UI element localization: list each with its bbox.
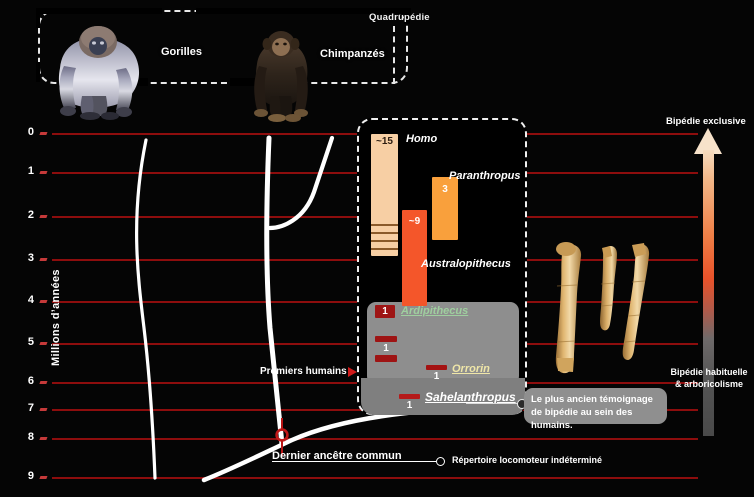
- ytick-mark-7: [40, 408, 48, 411]
- bipedality-bottom-line-1: Bipédie habituelle: [664, 366, 754, 378]
- chimpanzee-lineage-curve: [267, 138, 282, 444]
- first-humans-label: Premiers humains: [260, 366, 347, 377]
- hominin-taxa-panel: ~15 Homo 3 Paranthropus ~9 Australopithe…: [357, 118, 527, 415]
- human-lineage-curve: [204, 408, 482, 480]
- taxon-bar-sahelanthropus: [399, 394, 420, 399]
- taxon-bar-ardipithecus-kadabba-b: [375, 355, 397, 362]
- label-chimpanzes: Chimpanzés: [320, 48, 385, 60]
- orrorin-count: 1: [426, 371, 447, 382]
- homo-stripe-4: [371, 248, 398, 250]
- ytick-mark-2: [40, 215, 48, 218]
- ytick-label-3: 3: [20, 252, 34, 264]
- femur-fossils: [540, 238, 660, 383]
- ytick-label-9: 9: [20, 470, 34, 482]
- ytick-label-4: 4: [20, 294, 34, 306]
- gorilla-lineage-curve: [137, 140, 155, 478]
- homo-count: ~15: [371, 136, 398, 147]
- bipedality-top-label: Bipédie exclusive: [666, 116, 746, 127]
- bonobo-branch-curve: [270, 138, 332, 228]
- gorilla-photo: [38, 16, 158, 120]
- orrorin-label: Orrorin: [452, 363, 490, 375]
- quadrupedie-stem: [393, 26, 395, 84]
- oldest-bipedality-callout: Le plus ancien témoignage de bipédie au …: [524, 388, 667, 424]
- ytick-label-0: 0: [20, 126, 34, 138]
- paranthropus-label: Paranthropus: [449, 170, 521, 182]
- sahelanthropus-count: 1: [399, 400, 420, 411]
- ytick-label-1: 1: [20, 165, 34, 177]
- ytick-mark-6: [40, 381, 48, 384]
- ytick-mark-0: [40, 132, 48, 135]
- ytick-mark-4: [40, 300, 48, 303]
- taxon-bar-homo: [371, 134, 398, 256]
- last-common-ancestor-label: Dernier ancêtre commun: [272, 450, 402, 462]
- ardipithecus-kadabba-count: 1: [375, 343, 397, 354]
- femur-1-distal: [557, 358, 574, 372]
- ytick-mark-3: [40, 258, 48, 261]
- femur-3: [623, 244, 649, 360]
- callout-leader-line: [466, 403, 519, 404]
- femur-2: [600, 246, 617, 330]
- undetermined-locomotion-label: Répertoire locomoteur indéterminé: [452, 455, 602, 465]
- undetermined-locomotion-marker-icon: [436, 457, 445, 466]
- undetermined-locomotion-leader: [400, 461, 436, 462]
- bracket-mask-top-left: [36, 8, 162, 14]
- homo-stripe-1: [371, 224, 398, 226]
- bipedality-gradient-shaft: [703, 150, 714, 436]
- label-gorilles: Gorilles: [161, 46, 202, 58]
- bipedality-bottom-line-2: & arboricolisme: [664, 378, 754, 390]
- homo-stripe-3: [371, 240, 398, 242]
- ytick-label-8: 8: [20, 431, 34, 443]
- ytick-label-7: 7: [20, 402, 34, 414]
- ytick-label-6: 6: [20, 375, 34, 387]
- ardipithecus-count: 1: [375, 306, 395, 317]
- ytick-label-5: 5: [20, 336, 34, 348]
- quadrupedie-label: Quadrupédie: [369, 12, 430, 23]
- ytick-label-2: 2: [20, 209, 34, 221]
- ytick-mark-5: [40, 342, 48, 345]
- homo-label: Homo: [406, 133, 437, 145]
- taxon-bar-ardipithecus-kadabba-a: [375, 336, 397, 342]
- y-axis-title: Millions d’années: [50, 269, 62, 366]
- homo-stripe-2: [371, 232, 398, 234]
- sahelanthropus-label: Sahelanthropus: [425, 390, 516, 404]
- ytick-mark-9: [40, 476, 48, 479]
- femur-1: [556, 244, 581, 373]
- australopithecus-count: ~9: [402, 216, 427, 227]
- chimpanzee-photo: [237, 22, 325, 122]
- femur-1-head: [556, 242, 576, 256]
- ytick-mark-1: [40, 171, 48, 174]
- ardipithecus-label: Ardipithecus: [401, 305, 468, 317]
- taxon-bar-orrorin: [426, 365, 447, 370]
- ytick-mark-8: [40, 437, 48, 440]
- infographic-root: Quadrupédie: [0, 0, 754, 497]
- australopithecus-label: Australopithecus: [421, 258, 511, 270]
- bipedality-bottom-label: Bipédie habituelle & arboricolisme: [664, 366, 754, 390]
- paranthropus-count: 3: [432, 184, 458, 195]
- first-humains-arrow-icon: [348, 367, 357, 377]
